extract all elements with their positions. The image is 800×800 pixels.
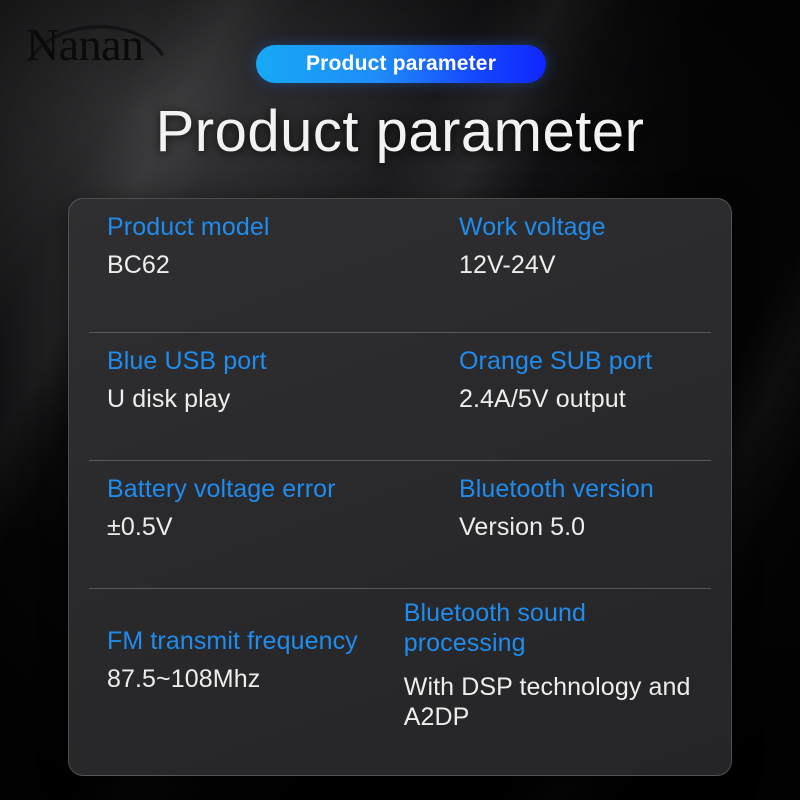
spec-cell-product-model: Product model BC62 [89, 199, 455, 332]
spec-label: FM transmit frequency [107, 627, 400, 657]
spec-label: Orange SUB port [459, 347, 705, 377]
spec-cell-blue-usb-port: Blue USB port U disk play [89, 333, 455, 460]
spec-value: With DSP technology and A2DP [404, 672, 705, 732]
spec-cell-orange-sub-port: Orange SUB port 2.4A/5V output [455, 333, 711, 460]
table-row: Battery voltage error ±0.5V Bluetooth ve… [89, 460, 711, 588]
table-row: Product model BC62 Work voltage 12V-24V [89, 199, 711, 332]
brand-logo-text: Nanan [26, 19, 144, 70]
spec-cell-battery-voltage-error: Battery voltage error ±0.5V [89, 461, 455, 588]
brand-logo: Nanan [22, 12, 202, 74]
spec-value: U disk play [107, 384, 455, 414]
spec-label: Work voltage [459, 213, 705, 243]
table-row: Blue USB port U disk play Orange SUB por… [89, 332, 711, 460]
spec-value: Version 5.0 [459, 512, 705, 542]
page-title: Product parameter [0, 98, 800, 165]
spec-cell-work-voltage: Work voltage 12V-24V [455, 199, 711, 332]
spec-value: 12V-24V [459, 250, 705, 280]
spec-label: Product model [107, 213, 455, 243]
spec-cell-bluetooth-version: Bluetooth version Version 5.0 [455, 461, 711, 588]
product-parameter-badge[interactable]: Product parameter [256, 45, 546, 83]
spec-cell-fm-transmit-frequency: FM transmit frequency 87.5~108Mhz [89, 589, 400, 775]
table-row: FM transmit frequency 87.5~108Mhz Blueto… [89, 588, 711, 775]
spec-label: Battery voltage error [107, 475, 455, 505]
spec-label: Bluetooth sound processing [404, 599, 705, 658]
spec-value: BC62 [107, 250, 455, 280]
badge-label: Product parameter [306, 52, 496, 76]
spec-value: 87.5~108Mhz [107, 664, 400, 694]
spec-value: ±0.5V [107, 512, 455, 542]
spec-label: Blue USB port [107, 347, 455, 377]
spec-cell-bluetooth-sound-processing: Bluetooth sound processing With DSP tech… [400, 589, 711, 775]
swoosh-arc-icon: Nanan [22, 12, 202, 74]
spec-label: Bluetooth version [459, 475, 705, 505]
spec-value: 2.4A/5V output [459, 384, 705, 414]
product-parameter-page: Nanan Product parameter Product paramete… [0, 0, 800, 800]
specification-card: Product model BC62 Work voltage 12V-24V … [68, 198, 732, 776]
